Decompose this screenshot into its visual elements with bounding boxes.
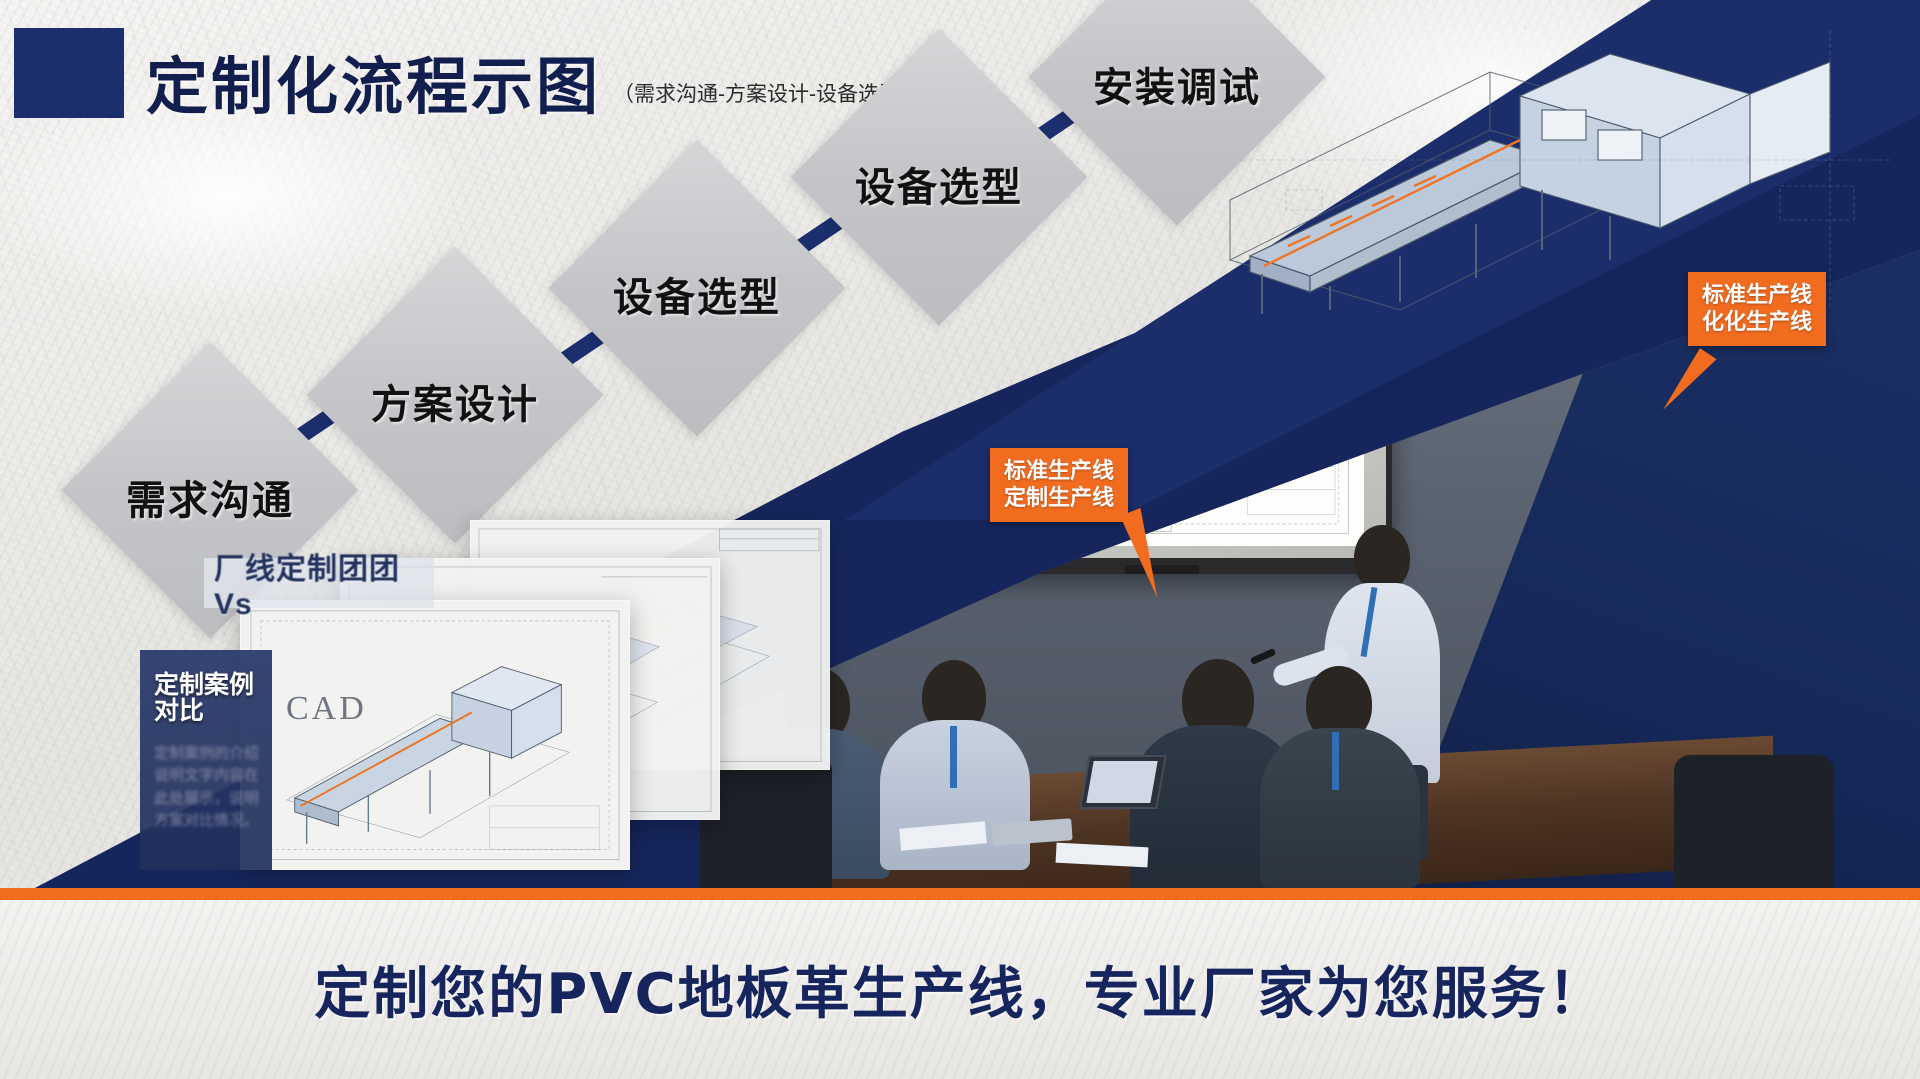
flow-node-3-label: 设备选型	[567, 265, 827, 323]
case-panel-title-line2: 对比	[154, 698, 262, 724]
case-panel-title-line1: 定制案例	[154, 672, 262, 698]
chair-right	[1674, 755, 1834, 895]
page-title: 定制化流程示图 （需求沟通-方案设计-设备选型）	[14, 28, 921, 118]
screen-bottom-bar	[1125, 565, 1199, 574]
flow-node-1-label: 需求沟通	[80, 468, 340, 526]
banner-text: 定制您的PVC地板革生产线，专业厂家为您服务！	[314, 949, 1605, 1030]
attendee-4-body	[1260, 728, 1420, 888]
preview-card-front-blueprint	[241, 601, 629, 870]
flow-node-2-label: 方案设计	[325, 372, 585, 430]
card-stack-label: 厂线定制团团Vs	[204, 558, 434, 608]
screen-callout[interactable]: 标准生产线 定制生产线	[990, 448, 1128, 522]
bottom-banner: 定制您的PVC地板革生产线，专业厂家为您服务！	[0, 894, 1920, 1079]
slide-canvas: 定制化流程示图 （需求沟通-方案设计-设备选型） 需求沟通 方案设计 设备选型 …	[0, 0, 1920, 1079]
preview-card-front[interactable]	[240, 600, 630, 870]
screen-callout-line1: 标准生产线	[1004, 458, 1114, 485]
attendee-2-lanyard	[950, 726, 957, 788]
machine-callout-line1: 标准生产线	[1702, 282, 1812, 309]
case-comparison-panel: 定制案例 对比 定制案例的介绍说明文字内容在此处展示，说明方案对比情况。	[140, 650, 272, 870]
title-main-text: 定制化流程示图	[146, 56, 601, 118]
flow-node-5-label: 安装调试	[1047, 55, 1307, 113]
title-accent-swatch	[14, 28, 124, 118]
flow-node-4-label: 设备选型	[809, 155, 1069, 213]
attendee-4-lanyard	[1332, 732, 1339, 790]
card-stack-label-text: 厂线定制团团Vs	[204, 544, 434, 622]
laptop-screen-content	[1086, 761, 1157, 803]
case-panel-title: 定制案例 对比	[154, 672, 262, 725]
machine-callout-line2: 化化生产线	[1702, 309, 1812, 336]
case-panel-body: 定制案例的介绍说明文字内容在此处展示，说明方案对比情况。	[154, 743, 262, 833]
attendee-4	[1260, 666, 1420, 881]
screen-callout-line2: 定制生产线	[1004, 485, 1114, 512]
presenter-head	[1354, 525, 1410, 591]
machine-callout[interactable]: 标准生产线 化化生产线	[1688, 272, 1826, 346]
cad-watermark-label: CAD	[286, 690, 367, 728]
